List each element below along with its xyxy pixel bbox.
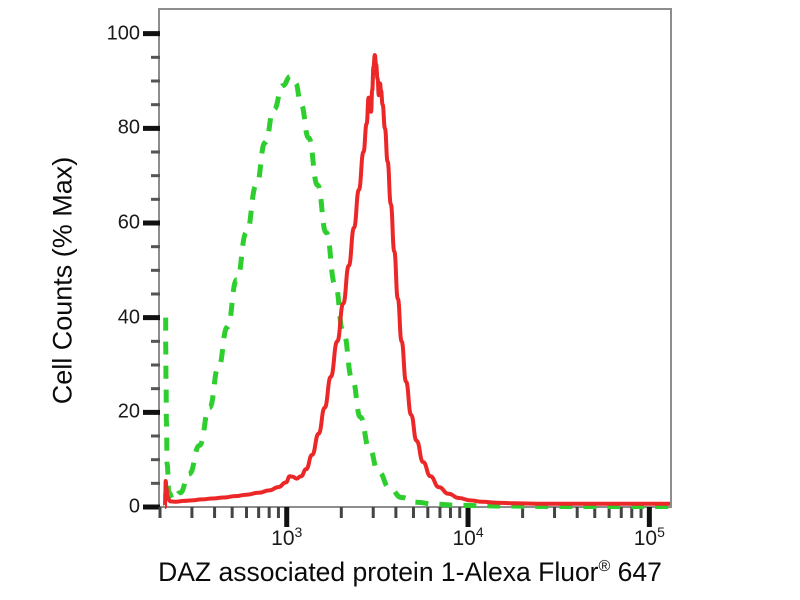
x-tick-label-1e5: 105: [634, 527, 665, 551]
x-tick-label-1e4: 104: [452, 527, 483, 551]
registered-trademark-symbol: ®: [599, 558, 611, 575]
x-axis-title: DAZ associated protein 1-Alexa Fluor® 64…: [60, 557, 760, 588]
x-tick-label-1e3: 103: [271, 527, 302, 551]
flow-cytometry-histogram-figure: Cell Counts (% Max) 020406080100 1031041…: [0, 0, 800, 600]
axis-ticks: [0, 0, 800, 600]
